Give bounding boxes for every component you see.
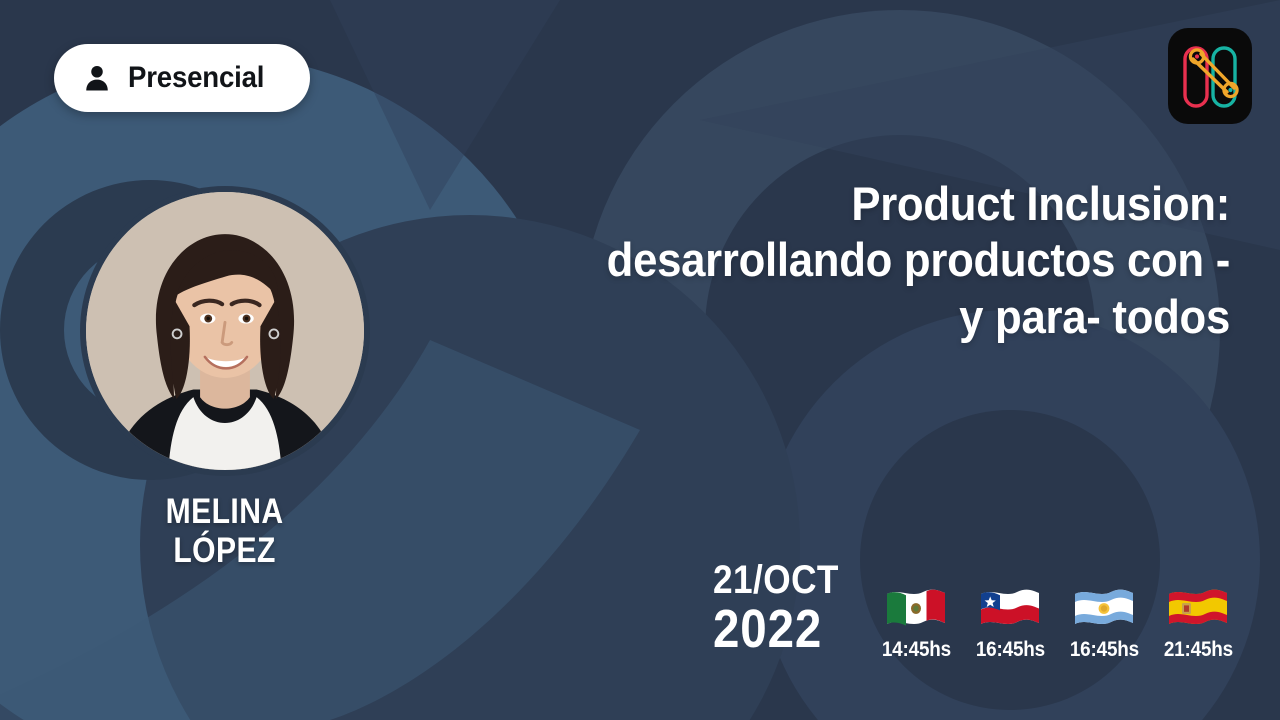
speaker-name-line1: MELINA bbox=[166, 492, 284, 531]
flag-chile-icon bbox=[979, 587, 1041, 631]
flag-mexico-icon bbox=[885, 587, 947, 631]
region-time-chile: 16:45hs bbox=[975, 638, 1044, 662]
person-icon bbox=[82, 63, 112, 93]
nn-logo-icon bbox=[1168, 28, 1252, 124]
speaker-name: MELINA LÓPEZ bbox=[166, 492, 284, 570]
region-item-argentina: 16:45hs bbox=[1066, 587, 1142, 662]
event-date: 21/OCT 2022 bbox=[713, 560, 839, 662]
region-item-mexico: 14:45hs bbox=[878, 587, 954, 662]
region-times-list: 14:45hs 16:45hs 16: bbox=[878, 587, 1236, 662]
schedule-block: 21/OCT 2022 14:45hs bbox=[713, 560, 1236, 662]
region-item-spain: 21:45hs bbox=[1160, 587, 1236, 662]
attendance-badge: Presencial bbox=[54, 44, 310, 112]
region-time-spain: 21:45hs bbox=[1163, 638, 1232, 662]
speaker-block: MELINA LÓPEZ bbox=[60, 186, 390, 570]
speaker-portrait bbox=[86, 192, 364, 470]
event-date-year: 2022 bbox=[713, 602, 839, 656]
attendance-badge-label: Presencial bbox=[128, 61, 264, 95]
talk-title-line1: Product Inclusion: bbox=[598, 176, 1230, 232]
flag-argentina-icon bbox=[1073, 587, 1135, 631]
region-time-mexico: 14:45hs bbox=[881, 638, 950, 662]
talk-title-line2: desarrollando productos con - bbox=[598, 232, 1230, 288]
region-item-chile: 16:45hs bbox=[972, 587, 1048, 662]
event-date-day: 21/OCT bbox=[713, 560, 839, 600]
event-promo-poster: Presencial bbox=[0, 0, 1280, 720]
talk-title-line3: y para- todos bbox=[598, 289, 1230, 345]
avatar bbox=[80, 186, 370, 476]
speaker-name-line2: LÓPEZ bbox=[166, 531, 284, 570]
talk-title: Product Inclusion: desarrollando product… bbox=[598, 176, 1230, 345]
region-time-argentina: 16:45hs bbox=[1069, 638, 1138, 662]
flag-spain-icon bbox=[1167, 587, 1229, 631]
